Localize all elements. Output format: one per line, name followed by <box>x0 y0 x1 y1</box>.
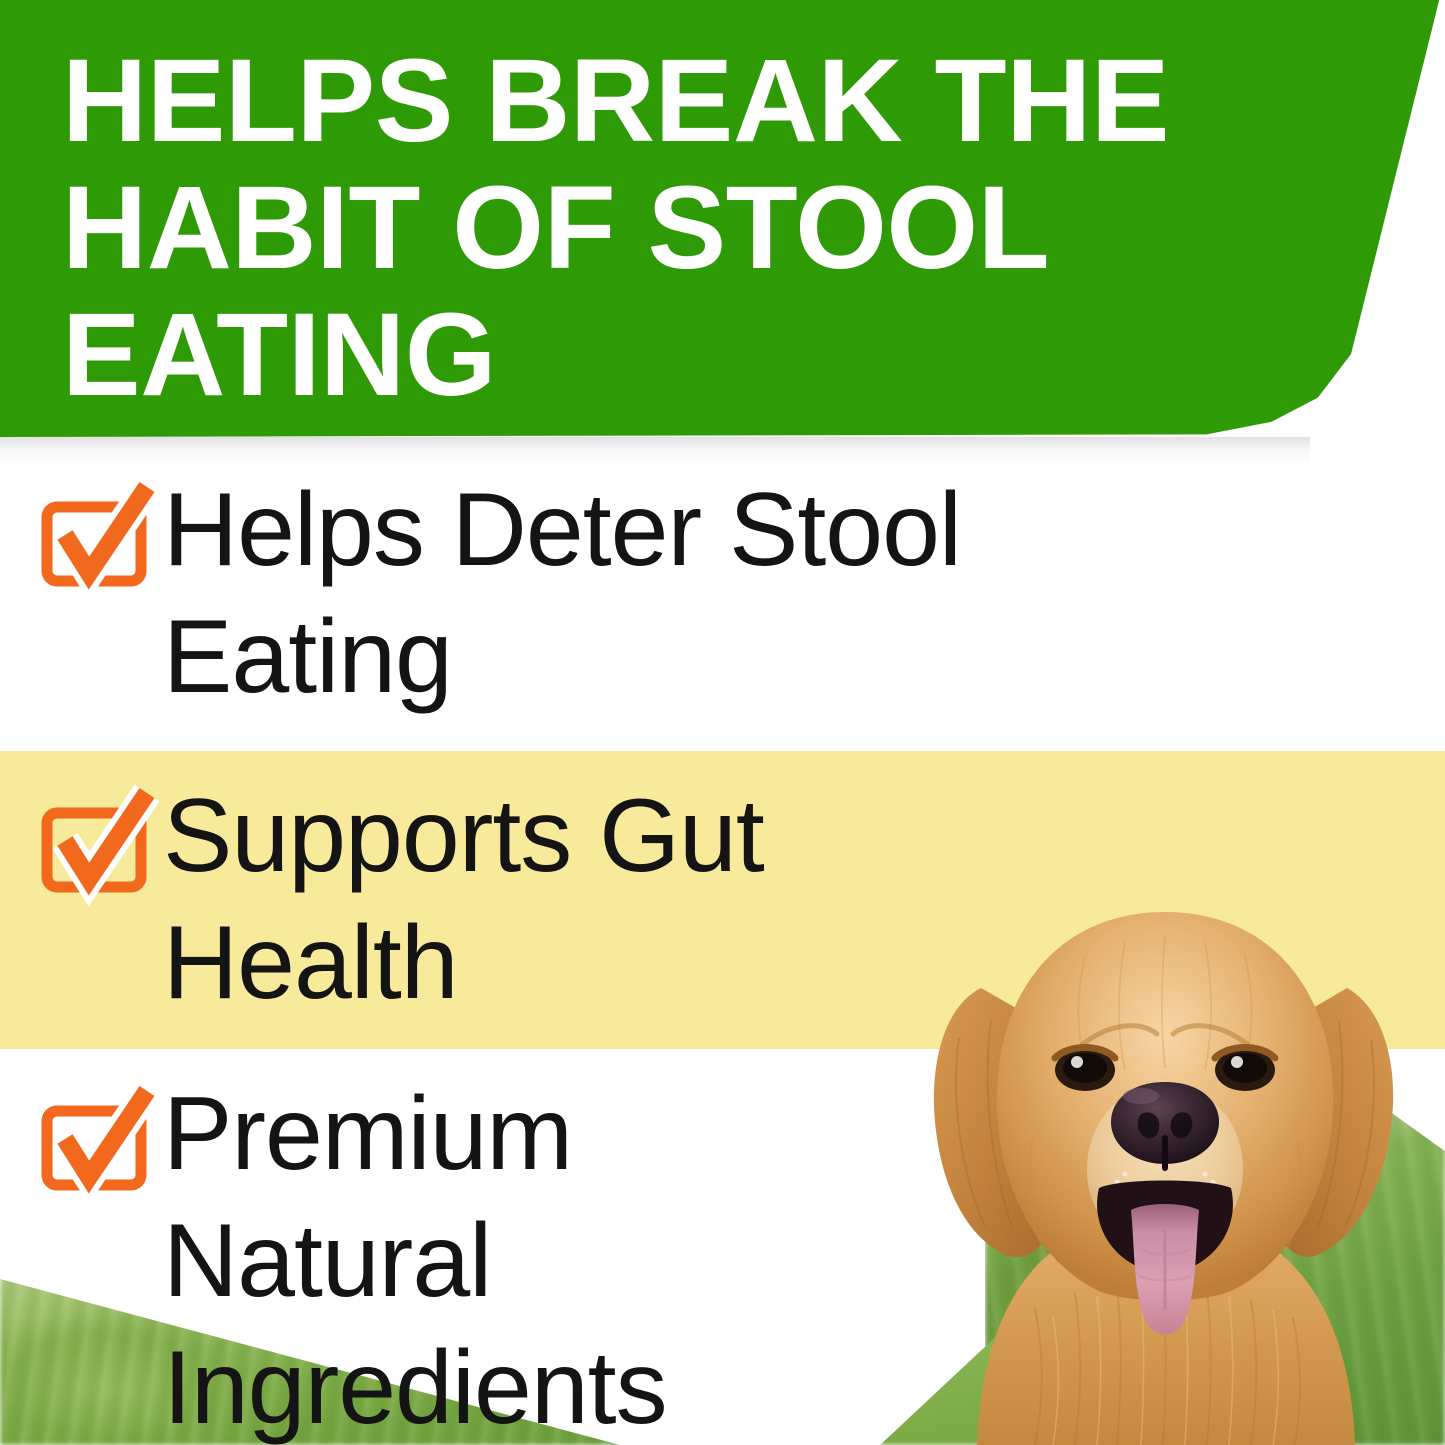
headline-banner: HELPS BREAK THE HABIT OF STOOL EATING <box>0 0 1445 437</box>
benefit-row-deter-stool-eating: Helps Deter Stool Eating <box>0 455 1445 729</box>
checked-checkbox-icon <box>43 795 155 899</box>
golden-retriever-photo <box>885 838 1445 1445</box>
checkbox-slot <box>0 1071 163 1197</box>
checkbox-slot <box>0 773 163 899</box>
product-benefits-infographic: HELPS BREAK THE HABIT OF STOOL EATING He… <box>0 0 1445 1445</box>
checked-checkbox-icon <box>43 1093 155 1197</box>
checked-checkbox-icon <box>43 489 155 593</box>
benefit-label: Helps Deter Stool Eating <box>163 467 1445 721</box>
checkbox-slot <box>0 467 163 593</box>
headline-text: HELPS BREAK THE HABIT OF STOOL EATING <box>62 38 1242 419</box>
